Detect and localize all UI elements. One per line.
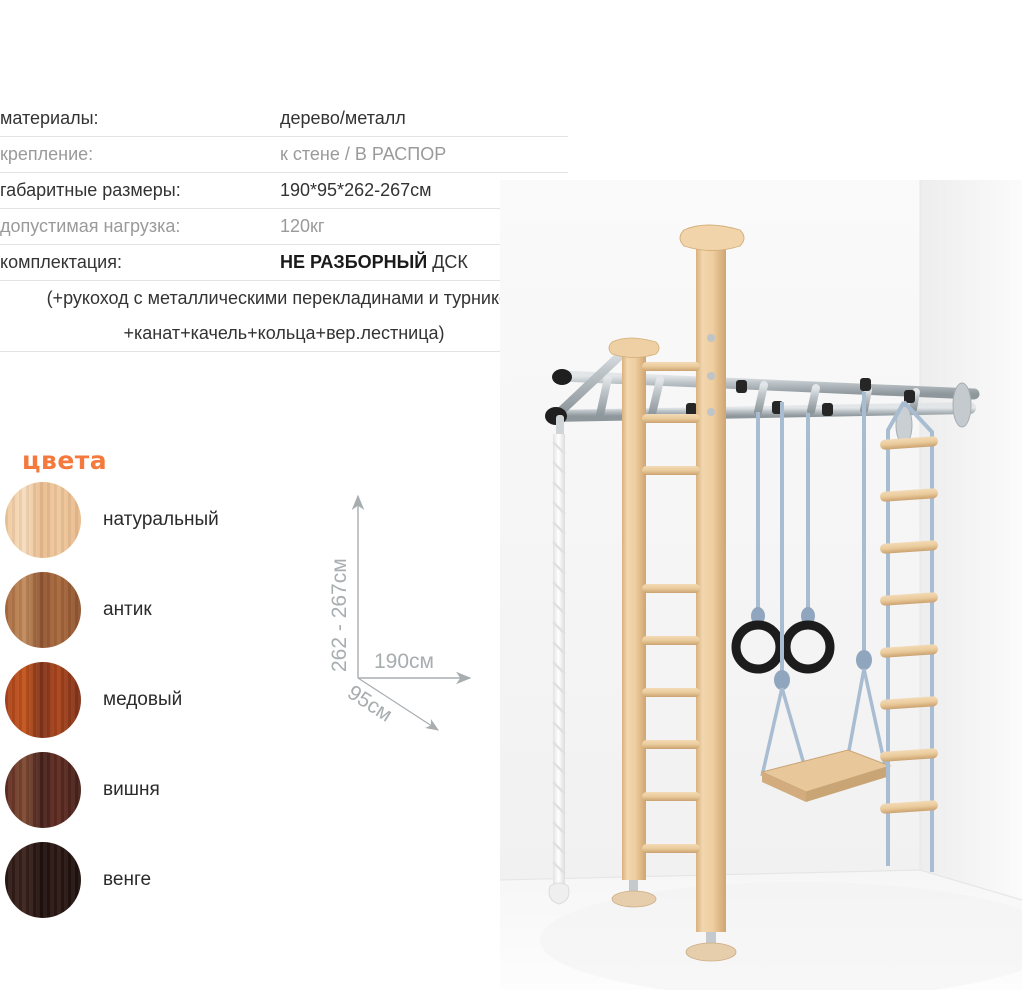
ladder-rung	[642, 466, 700, 475]
spec-row-configuration: комплектация: НЕ РАЗБОРНЫЙ ДСК	[0, 245, 568, 281]
color-label: вишня	[103, 779, 160, 801]
foot-pad	[612, 891, 656, 907]
color-label: натуральный	[103, 509, 219, 531]
color-label: медовый	[103, 689, 182, 711]
ladder-rung	[642, 636, 700, 645]
configuration-note-line-1: (+рукоход с металлическими перекладинами…	[0, 281, 568, 316]
color-option-natural[interactable]: натуральный	[0, 475, 300, 565]
color-option-cherry[interactable]: вишня	[0, 745, 300, 835]
colors-title: цвета	[22, 446, 300, 475]
width-dimension-label: 190см	[374, 650, 434, 673]
wood-grain-texture	[5, 752, 81, 828]
spec-key: крепление:	[0, 137, 280, 172]
color-label: венге	[103, 869, 151, 891]
color-swatch-honey[interactable]	[5, 662, 81, 738]
spec-key: материалы:	[0, 101, 280, 136]
spec-value: 120кг	[280, 209, 324, 244]
bar-end-cap-rear-left	[552, 369, 572, 385]
color-swatch-natural[interactable]	[5, 482, 81, 558]
wood-grain-texture	[5, 662, 81, 738]
product-illustration	[500, 180, 1022, 990]
ladder-rung	[642, 792, 700, 801]
rear-left-post	[622, 350, 646, 880]
spec-value-rest: ДСК	[427, 252, 468, 272]
room-background	[500, 180, 1022, 990]
side-wall	[920, 180, 1022, 900]
spec-value: НЕ РАЗБОРНЫЙ ДСК	[280, 245, 468, 280]
ladder-rung	[642, 844, 700, 853]
colors-section: цвета натуральный антик медовый вишня ве…	[0, 446, 300, 925]
main-front-post	[696, 242, 726, 932]
spec-value: 190*95*262-267см	[280, 173, 432, 208]
ladder-rung	[642, 362, 700, 371]
depth-dimension-label: 95см	[343, 681, 396, 727]
main-post-cap	[680, 225, 744, 251]
color-swatch-cherry[interactable]	[5, 752, 81, 828]
wood-grain-texture	[5, 572, 81, 648]
configuration-note-line-2: +канат+качель+кольца+вер.лестница)	[0, 316, 568, 352]
color-swatch-wenge[interactable]	[5, 842, 81, 918]
ladder-rung	[642, 740, 700, 749]
wood-grain-texture	[5, 842, 81, 918]
foot-pad	[686, 943, 736, 961]
color-option-honey[interactable]: медовый	[0, 655, 300, 745]
swing-knot-right	[856, 650, 872, 670]
spec-row-max-load: допустимая нагрузка: 120кг	[0, 209, 568, 245]
rear-post-cap	[609, 338, 659, 358]
spec-value: к стене / В РАСПОР	[280, 137, 446, 172]
color-option-wenge[interactable]: венге	[0, 835, 300, 925]
swing-knot-left	[774, 670, 790, 690]
spec-value-strong: НЕ РАЗБОРНЫЙ	[280, 252, 427, 272]
color-label: антик	[103, 599, 152, 621]
spec-key: комплектация:	[0, 245, 280, 280]
wood-grain-texture	[5, 482, 81, 558]
spec-row-mounting: крепление: к стене / В РАСПОР	[0, 137, 568, 173]
spec-row-materials: материалы: дерево/металл	[0, 101, 568, 137]
color-option-antique[interactable]: антик	[0, 565, 300, 655]
specification-table: материалы: дерево/металл крепление: к ст…	[0, 101, 568, 352]
ladder-rung	[642, 414, 700, 423]
spec-row-dimensions: габаритные размеры: 190*95*262-267см	[0, 173, 568, 209]
dimension-diagram: 262 - 267см 190см 95см	[312, 482, 512, 752]
height-dimension-label: 262 - 267см	[328, 558, 351, 672]
wall-mount-flange-upper	[953, 383, 971, 427]
rope-carabiner	[556, 415, 564, 437]
spec-value: дерево/металл	[280, 101, 406, 136]
spec-key: габаритные размеры:	[0, 173, 280, 208]
spec-key: допустимая нагрузка:	[0, 209, 280, 244]
ladder-rung	[642, 688, 700, 697]
color-swatch-antique[interactable]	[5, 572, 81, 648]
ladder-rung	[642, 584, 700, 593]
